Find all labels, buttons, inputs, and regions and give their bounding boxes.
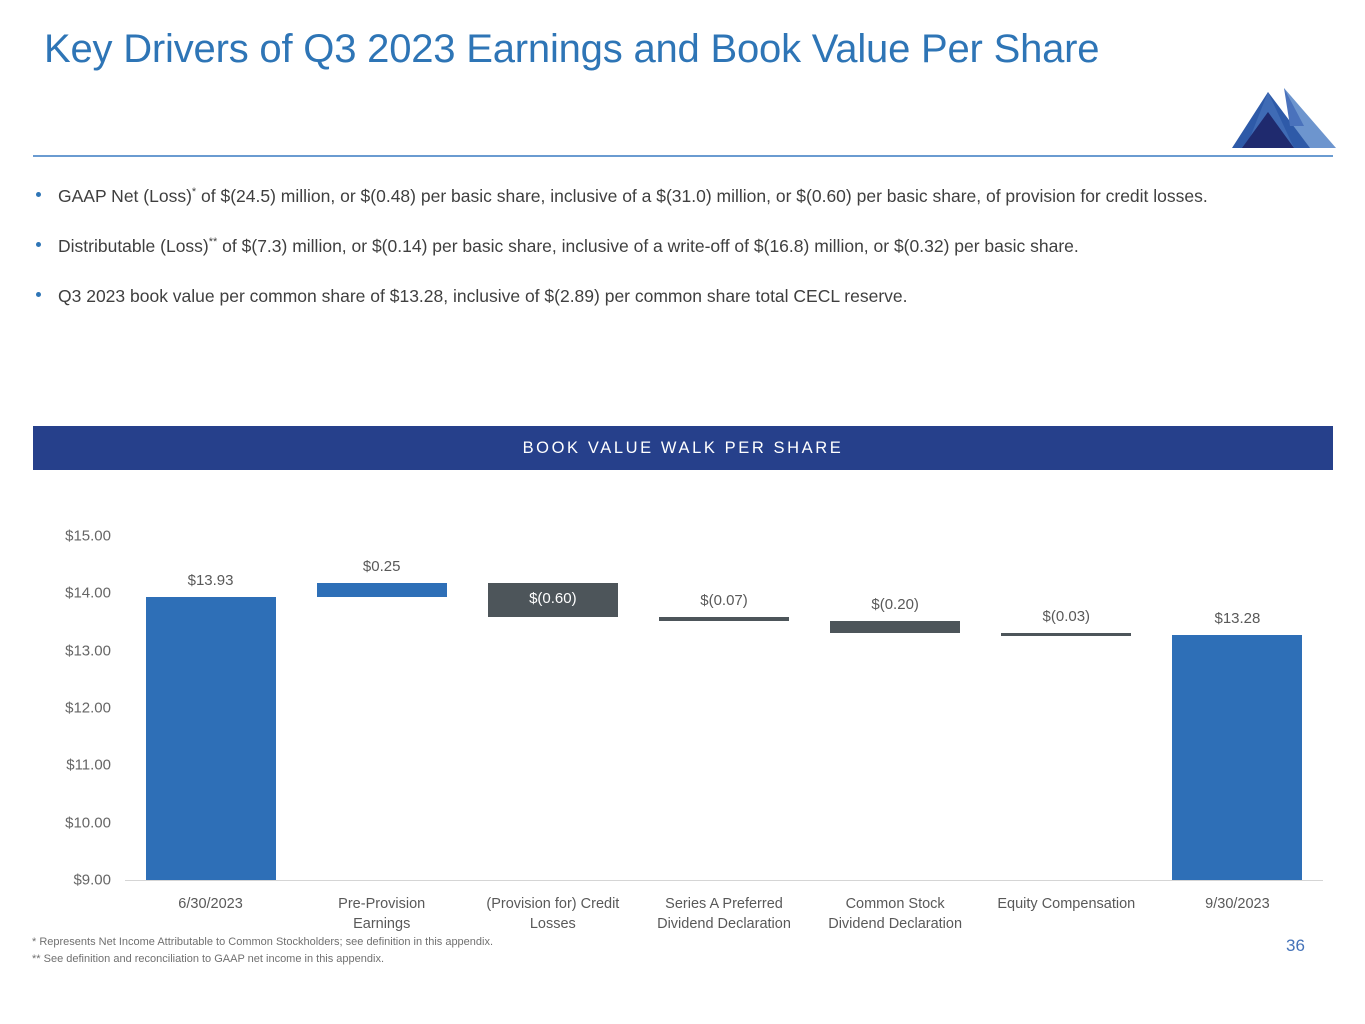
page-title: Key Drivers of Q3 2023 Earnings and Book… (44, 24, 1194, 75)
x-axis-category-label: Equity Compensation (967, 894, 1166, 914)
bullet-gaap-net-loss: GAAP Net (Loss)* of $(24.5) million, or … (30, 183, 1335, 209)
y-axis-tick: $9.00 (33, 872, 111, 889)
bullet-dot-icon (36, 192, 41, 197)
mountain-logo (1232, 86, 1336, 148)
x-axis-category-label: 9/30/2023 (1138, 894, 1337, 914)
chart-plot-area: $15.00$14.00$13.00$12.00$11.00$10.00$9.0… (33, 470, 1333, 896)
chart-bar (317, 583, 447, 597)
bullet-text: GAAP Net (Loss)* of $(24.5) million, or … (58, 186, 1208, 206)
chart-bar (830, 621, 960, 632)
book-value-walk-chart: BOOK VALUE WALK PER SHARE $15.00$14.00$1… (33, 426, 1333, 896)
y-axis-tick: $13.00 (33, 642, 111, 659)
chart-bar (1001, 633, 1131, 636)
chart-bar (659, 617, 789, 621)
x-axis-category-label: Pre-Provision Earnings (282, 894, 481, 934)
bullet-dot-icon (36, 292, 41, 297)
footnote-double-asterisk: ** See definition and reconciliation to … (32, 951, 932, 968)
bullet-distributable-loss: Distributable (Loss)** of $(7.3) million… (30, 233, 1335, 259)
y-axis-tick: $14.00 (33, 585, 111, 602)
page-number: 36 (1286, 936, 1305, 956)
bar-value-label: $0.25 (363, 558, 401, 575)
chart-bar (1172, 635, 1302, 880)
x-axis-line (125, 880, 1323, 881)
x-axis-category-label: (Provision for) Credit Losses (453, 894, 652, 934)
bar-value-label: $(0.03) (1043, 608, 1091, 625)
x-axis-category-label: Series A Preferred Dividend Declaration (624, 894, 823, 934)
bullet-book-value-per-share: Q3 2023 book value per common share of $… (30, 283, 1335, 309)
chart-title-banner: BOOK VALUE WALK PER SHARE (33, 426, 1333, 470)
footnotes: * Represents Net Income Attributable to … (32, 934, 932, 968)
bar-value-label: $(0.07) (700, 592, 748, 609)
x-axis-category-label: 6/30/2023 (111, 894, 310, 914)
x-axis-category-label: Common Stock Dividend Declaration (796, 894, 995, 934)
title-divider (33, 155, 1333, 157)
y-axis-tick: $10.00 (33, 814, 111, 831)
slide-header: Key Drivers of Q3 2023 Earnings and Book… (0, 0, 1365, 160)
bar-value-label: $(0.60) (529, 590, 577, 607)
bullet-list: GAAP Net (Loss)* of $(24.5) million, or … (30, 183, 1335, 309)
y-axis-tick: $15.00 (33, 528, 111, 545)
bar-value-label: $13.93 (188, 572, 234, 589)
bullet-dot-icon (36, 242, 41, 247)
bullet-text: Distributable (Loss)** of $(7.3) million… (58, 236, 1079, 256)
bullet-text: Q3 2023 book value per common share of $… (58, 286, 908, 306)
bar-value-label: $13.28 (1214, 610, 1260, 627)
y-axis-tick: $12.00 (33, 700, 111, 717)
footnote-single-asterisk: * Represents Net Income Attributable to … (32, 934, 932, 951)
y-axis-tick: $11.00 (33, 757, 111, 774)
chart-bar (146, 597, 276, 880)
bar-value-label: $(0.20) (871, 596, 919, 613)
